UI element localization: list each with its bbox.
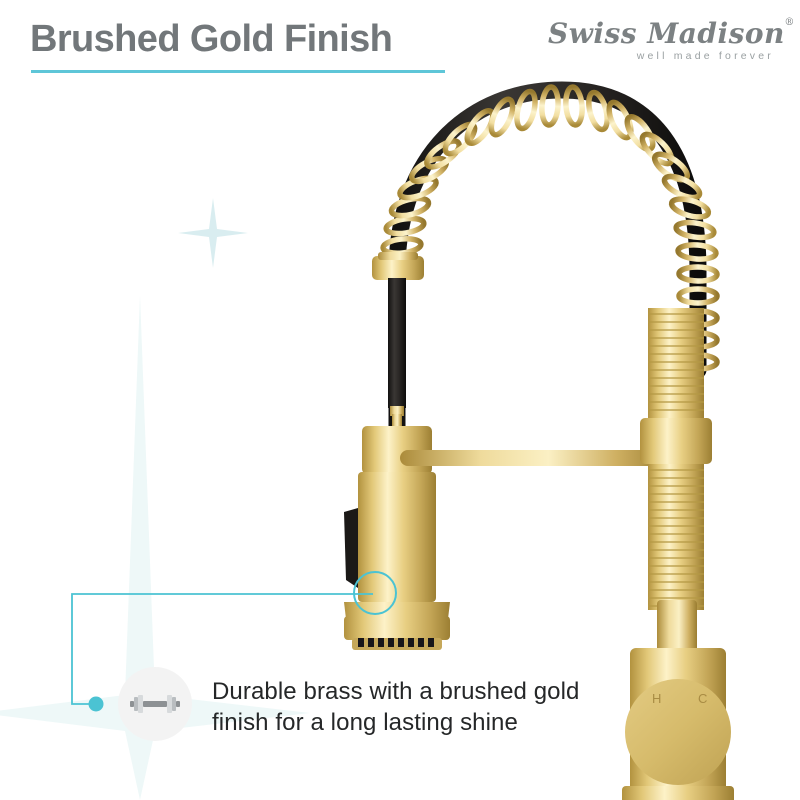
product-feature-graphic: Brushed Gold Finish Swiss Madison® well … [0, 0, 800, 800]
page-title: Brushed Gold Finish [30, 18, 392, 61]
callout-icon-badge [118, 667, 192, 741]
brand-name-text: Swiss Madison [548, 17, 785, 50]
handle-hot-label: H [652, 691, 661, 706]
callout-text-line-2: finish for a long lasting shine [212, 707, 632, 738]
callout-connector-dot [89, 697, 104, 712]
faucet-column-coil-upper [640, 308, 712, 464]
handle-cold-label: C [698, 691, 707, 706]
brand-logo: Swiss Madison® well made forever [548, 20, 778, 62]
faucet-column-coil-lower [648, 464, 704, 610]
callout-text-line-1: Durable brass with a brushed gold [212, 676, 632, 707]
faucet-hose-collar [372, 252, 424, 280]
faucet-valve-body: H C [622, 600, 734, 800]
dumbbell-icon [129, 689, 181, 719]
registered-trademark-icon: ® [784, 18, 795, 28]
faucet-handle-disc [625, 679, 731, 785]
faucet-support-arm [400, 450, 670, 466]
sparkle-small-icon [178, 198, 248, 268]
faucet-hose-lower [388, 278, 406, 428]
callout-text-block: Durable brass with a brushed gold finish… [212, 676, 632, 738]
sprayer-trigger-lever [344, 508, 358, 588]
brand-name: Swiss Madison® [548, 20, 785, 48]
